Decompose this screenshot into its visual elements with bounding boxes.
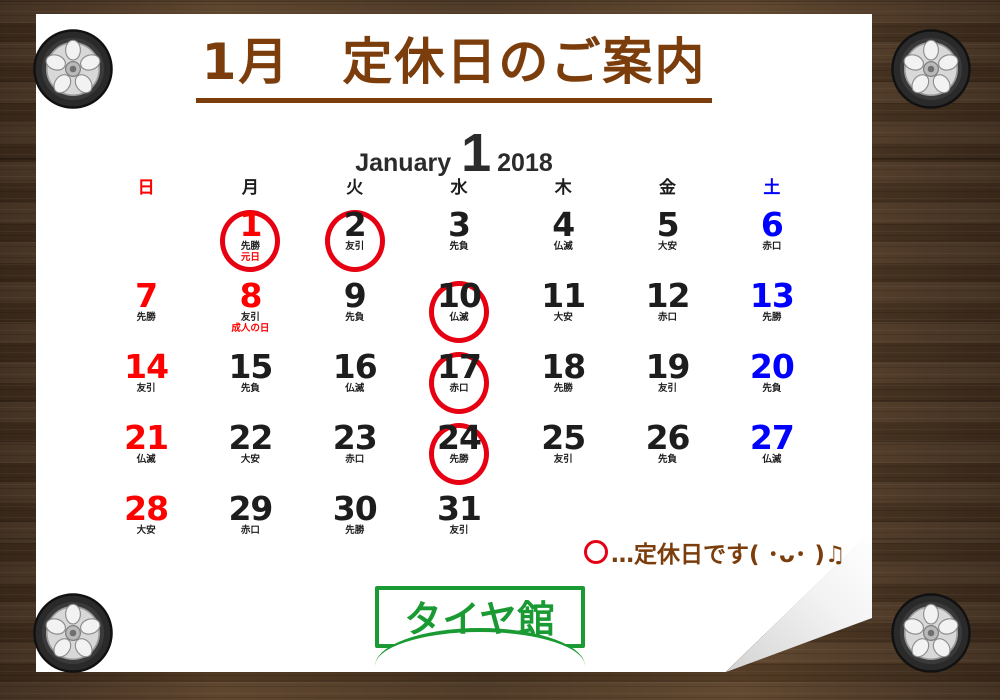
day-content: 25友引 xyxy=(533,418,593,466)
day-number: 8 xyxy=(220,280,280,312)
month-number: 1 xyxy=(461,123,491,183)
weekday-header-cell: 日 xyxy=(94,180,198,205)
day-number: 16 xyxy=(325,351,385,383)
day-content: 12赤口 xyxy=(638,276,698,324)
day-content: 8友引成人の日 xyxy=(220,276,280,335)
calendar-day-cell[interactable]: 8友引成人の日 xyxy=(198,276,302,347)
day-content: 27仏滅 xyxy=(742,418,802,466)
tire-icon-bottom-right xyxy=(890,592,972,674)
day-content: 3先負 xyxy=(429,205,489,253)
page-title: 1月 定休日のご案内 xyxy=(36,34,872,103)
calendar-weeks: 1先勝元日2友引3先負4仏滅5大安6赤口7先勝8友引成人の日9先負10仏滅11大… xyxy=(94,205,824,560)
day-content: 15先負 xyxy=(220,347,280,395)
weekday-label: 土 xyxy=(720,180,824,205)
day-rokuyo-label: 赤口 xyxy=(742,242,802,253)
weekday-header-row: 日月火水木金土 xyxy=(94,180,824,205)
calendar-day-cell[interactable]: 29赤口 xyxy=(198,489,302,560)
day-content: 9先負 xyxy=(325,276,385,324)
day-number: 9 xyxy=(325,280,385,312)
calendar-empty-cell xyxy=(94,205,198,276)
day-rokuyo-label: 先負 xyxy=(429,242,489,253)
day-content: 28大安 xyxy=(116,489,176,537)
weekday-label: 金 xyxy=(615,180,719,205)
calendar-day-cell[interactable]: 23赤口 xyxy=(303,418,407,489)
day-number: 7 xyxy=(116,280,176,312)
calendar-day-cell[interactable]: 24先勝 xyxy=(407,418,511,489)
weekday-header-cell: 金 xyxy=(615,180,719,205)
poster-background: 1月 定休日のご案内 January12018 日月火水木金土 1先勝元日2友引… xyxy=(0,0,1000,700)
weekday-label: 火 xyxy=(303,180,407,205)
calendar-week-row: 1先勝元日2友引3先負4仏滅5大安6赤口 xyxy=(94,205,824,276)
tire-icon-top-left xyxy=(32,28,114,110)
weekday-header-cell: 火 xyxy=(303,180,407,205)
day-content: 5大安 xyxy=(638,205,698,253)
month-heading: January12018 xyxy=(36,126,872,180)
day-content: 14友引 xyxy=(116,347,176,395)
calendar-day-cell[interactable]: 12赤口 xyxy=(615,276,719,347)
weekday-label: 日 xyxy=(94,180,198,205)
calendar-day-cell[interactable]: 10仏滅 xyxy=(407,276,511,347)
calendar-day-cell[interactable]: 3先負 xyxy=(407,205,511,276)
weekday-header-cell: 月 xyxy=(198,180,302,205)
day-number: 23 xyxy=(325,422,385,454)
calendar-day-cell[interactable]: 17赤口 xyxy=(407,347,511,418)
day-number: 4 xyxy=(533,209,593,241)
day-number: 31 xyxy=(429,493,489,525)
logo-text: タイヤ館 xyxy=(375,586,585,648)
weekday-header-cell: 木 xyxy=(511,180,615,205)
day-number: 17 xyxy=(429,351,489,383)
day-content: 29赤口 xyxy=(220,489,280,537)
day-number: 30 xyxy=(325,493,385,525)
calendar-day-cell[interactable]: 2友引 xyxy=(303,205,407,276)
calendar-day-cell[interactable]: 7先勝 xyxy=(94,276,198,347)
day-content: 6赤口 xyxy=(742,205,802,253)
weekday-label: 木 xyxy=(511,180,615,205)
day-content: 1先勝元日 xyxy=(220,205,280,264)
calendar-day-cell[interactable]: 21仏滅 xyxy=(94,418,198,489)
weekday-label: 水 xyxy=(407,180,511,205)
calendar-day-cell[interactable]: 25友引 xyxy=(511,418,615,489)
month-name-en: January xyxy=(355,149,451,177)
day-number: 22 xyxy=(220,422,280,454)
day-rokuyo-label: 先負 xyxy=(325,313,385,324)
day-number: 13 xyxy=(742,280,802,312)
legend: …定休日です( ･ᴗ･ )♫ xyxy=(584,535,845,569)
day-number: 10 xyxy=(429,280,489,312)
calendar-day-cell[interactable]: 30先勝 xyxy=(303,489,407,560)
legend-text: …定休日です( ･ᴗ･ )♫ xyxy=(611,535,845,569)
calendar-day-cell[interactable]: 11大安 xyxy=(511,276,615,347)
calendar-day-cell[interactable]: 27仏滅 xyxy=(720,418,824,489)
calendar-week-row: 7先勝8友引成人の日9先負10仏滅11大安12赤口13先勝 xyxy=(94,276,824,347)
day-content: 10仏滅 xyxy=(429,276,489,324)
day-content: 21仏滅 xyxy=(116,418,176,466)
day-content: 20先負 xyxy=(742,347,802,395)
day-number: 11 xyxy=(533,280,593,312)
tire-icon-bottom-left xyxy=(32,592,114,674)
calendar-day-cell[interactable]: 31友引 xyxy=(407,489,511,560)
day-number: 25 xyxy=(533,422,593,454)
day-number: 20 xyxy=(742,351,802,383)
day-rokuyo-label: 仏滅 xyxy=(533,242,593,253)
day-content: 7先勝 xyxy=(116,276,176,324)
calendar-week-row: 14友引15先負16仏滅17赤口18先勝19友引20先負 xyxy=(94,347,824,418)
weekday-header-cell: 土 xyxy=(720,180,824,205)
day-number: 5 xyxy=(638,209,698,241)
day-number: 14 xyxy=(116,351,176,383)
calendar-day-cell[interactable]: 6赤口 xyxy=(720,205,824,276)
calendar-day-cell[interactable]: 1先勝元日 xyxy=(198,205,302,276)
closed-day-ring-icon xyxy=(584,540,608,564)
calendar-day-cell[interactable]: 16仏滅 xyxy=(303,347,407,418)
day-rokuyo-label: 大安 xyxy=(638,242,698,253)
calendar-week-row: 21仏滅22大安23赤口24先勝25友引26先負27仏滅 xyxy=(94,418,824,489)
tire-icon-top-right xyxy=(890,28,972,110)
calendar-day-cell[interactable]: 18先勝 xyxy=(511,347,615,418)
day-rokuyo-label: 先勝 xyxy=(116,313,176,324)
day-number: 26 xyxy=(638,422,698,454)
weekday-label: 月 xyxy=(198,180,302,205)
calendar-day-cell[interactable]: 22大安 xyxy=(198,418,302,489)
weekday-header-cell: 水 xyxy=(407,180,511,205)
day-content: 23赤口 xyxy=(325,418,385,466)
calendar-day-cell[interactable]: 15先負 xyxy=(198,347,302,418)
shop-logo: タイヤ館 xyxy=(375,586,585,648)
day-content: 24先勝 xyxy=(429,418,489,466)
calendar-day-cell[interactable]: 13先勝 xyxy=(720,276,824,347)
day-content: 18先勝 xyxy=(533,347,593,395)
page-title-text: 1月 定休日のご案内 xyxy=(196,34,713,103)
day-number: 18 xyxy=(533,351,593,383)
calendar-day-cell[interactable]: 9先負 xyxy=(303,276,407,347)
poster-content: 1月 定休日のご案内 January12018 日月火水木金土 1先勝元日2友引… xyxy=(36,14,872,672)
day-content: 31友引 xyxy=(429,489,489,537)
day-number: 27 xyxy=(742,422,802,454)
day-content: 16仏滅 xyxy=(325,347,385,395)
day-number: 3 xyxy=(429,209,489,241)
day-rokuyo-label: 友引 xyxy=(325,242,385,253)
day-content: 2友引 xyxy=(325,205,385,253)
day-number: 19 xyxy=(638,351,698,383)
day-number: 28 xyxy=(116,493,176,525)
calendar-grid: 日月火水木金土 1先勝元日2友引3先負4仏滅5大安6赤口7先勝8友引成人の日9先… xyxy=(94,180,824,560)
day-content: 22大安 xyxy=(220,418,280,466)
calendar-day-cell[interactable]: 4仏滅 xyxy=(511,205,615,276)
calendar-day-cell[interactable]: 26先負 xyxy=(615,418,719,489)
day-number: 21 xyxy=(116,422,176,454)
day-content: 19友引 xyxy=(638,347,698,395)
calendar-day-cell[interactable]: 14友引 xyxy=(94,347,198,418)
calendar-day-cell[interactable]: 19友引 xyxy=(615,347,719,418)
day-number: 24 xyxy=(429,422,489,454)
day-number: 1 xyxy=(220,209,280,241)
calendar-day-cell[interactable]: 28大安 xyxy=(94,489,198,560)
day-holiday-label: 元日 xyxy=(220,253,280,264)
calendar-day-cell[interactable]: 5大安 xyxy=(615,205,719,276)
day-number: 2 xyxy=(325,209,385,241)
day-content: 26先負 xyxy=(638,418,698,466)
day-number: 29 xyxy=(220,493,280,525)
calendar-day-cell[interactable]: 20先負 xyxy=(720,347,824,418)
day-content: 13先勝 xyxy=(742,276,802,324)
day-content: 11大安 xyxy=(533,276,593,324)
day-holiday-label: 成人の日 xyxy=(220,324,280,335)
year-label: 2018 xyxy=(497,149,553,177)
day-content: 4仏滅 xyxy=(533,205,593,253)
day-content: 30先勝 xyxy=(325,489,385,537)
day-number: 6 xyxy=(742,209,802,241)
day-content: 17赤口 xyxy=(429,347,489,395)
day-number: 15 xyxy=(220,351,280,383)
day-number: 12 xyxy=(638,280,698,312)
